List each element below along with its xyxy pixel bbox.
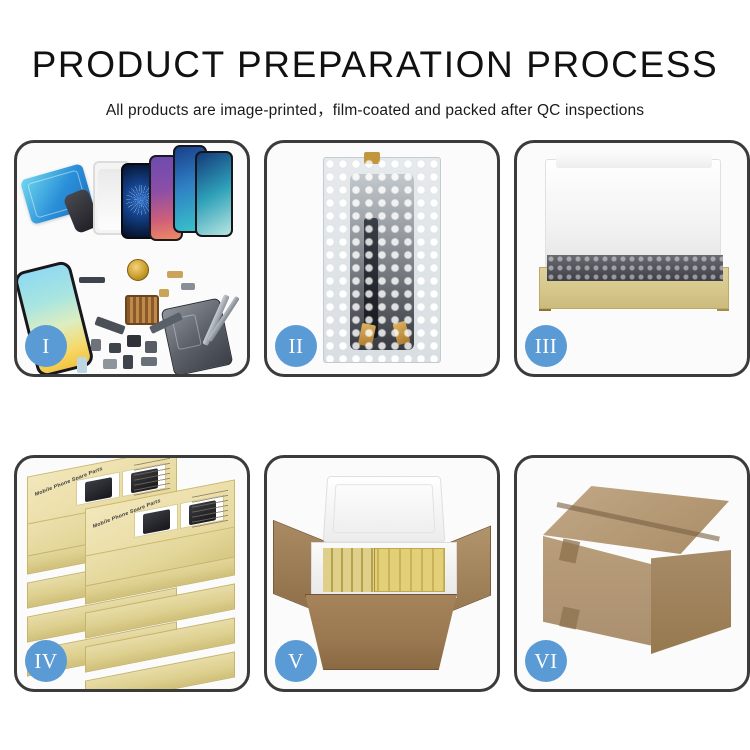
step-badge-4: IV	[25, 640, 67, 682]
foam-lid-icon	[323, 476, 446, 543]
step-panel-1: I	[14, 140, 250, 377]
small-part-icon	[79, 277, 105, 283]
step-badge-2: II	[275, 325, 317, 367]
cardboard-carton-icon	[305, 594, 457, 670]
speaker-coil-icon	[127, 259, 149, 281]
wrapped-part-icon	[350, 174, 414, 350]
flex-cable-icon	[94, 316, 125, 335]
small-part-icon	[91, 339, 101, 351]
bag-seal-tab-icon	[364, 152, 380, 164]
header: PRODUCT PREPARATION PROCESS All products…	[0, 0, 750, 120]
step-badge-3: III	[525, 325, 567, 367]
gold-connector-icon	[393, 321, 411, 345]
small-part-icon	[159, 289, 169, 297]
small-part-icon	[127, 335, 141, 347]
small-part-icon	[181, 283, 195, 290]
circuit-chip-icon	[125, 295, 159, 325]
spec-text-lines	[192, 490, 228, 529]
small-part-icon	[123, 355, 133, 369]
step-panel-2: II	[264, 140, 500, 377]
spec-text-lines	[134, 458, 170, 497]
small-part-icon	[141, 357, 157, 366]
yellow-boxes-contents-icon	[323, 548, 375, 592]
small-part-icon	[167, 271, 183, 278]
page-title: PRODUCT PREPARATION PROCESS	[0, 44, 750, 86]
step-badge-1: I	[25, 325, 67, 367]
teal-phone-icon	[195, 151, 233, 237]
small-part-icon	[145, 341, 157, 353]
grey-bubble-wrap-fill-icon	[547, 255, 723, 281]
part-strip-icon	[364, 218, 378, 338]
step-badge-6: VI	[525, 640, 567, 682]
step-panel-6: VI	[514, 455, 750, 692]
small-part-icon	[77, 357, 87, 373]
small-part-icon	[103, 359, 117, 369]
bubble-wrap-bag-icon	[323, 157, 441, 363]
small-part-icon	[109, 343, 121, 353]
page-subtitle: All products are image-printed，film-coat…	[0, 98, 750, 120]
step-panel-5: V	[264, 455, 500, 692]
carton-side-face	[651, 550, 731, 654]
step-badge-5: V	[275, 640, 317, 682]
step-panel-4: Mobile Phone Spare Parts Mobile Phone Sp…	[14, 455, 250, 692]
step-panel-3: III	[514, 140, 750, 377]
gold-connector-icon	[358, 323, 376, 347]
product-preparation-infographic: PRODUCT PREPARATION PROCESS All products…	[0, 0, 750, 750]
